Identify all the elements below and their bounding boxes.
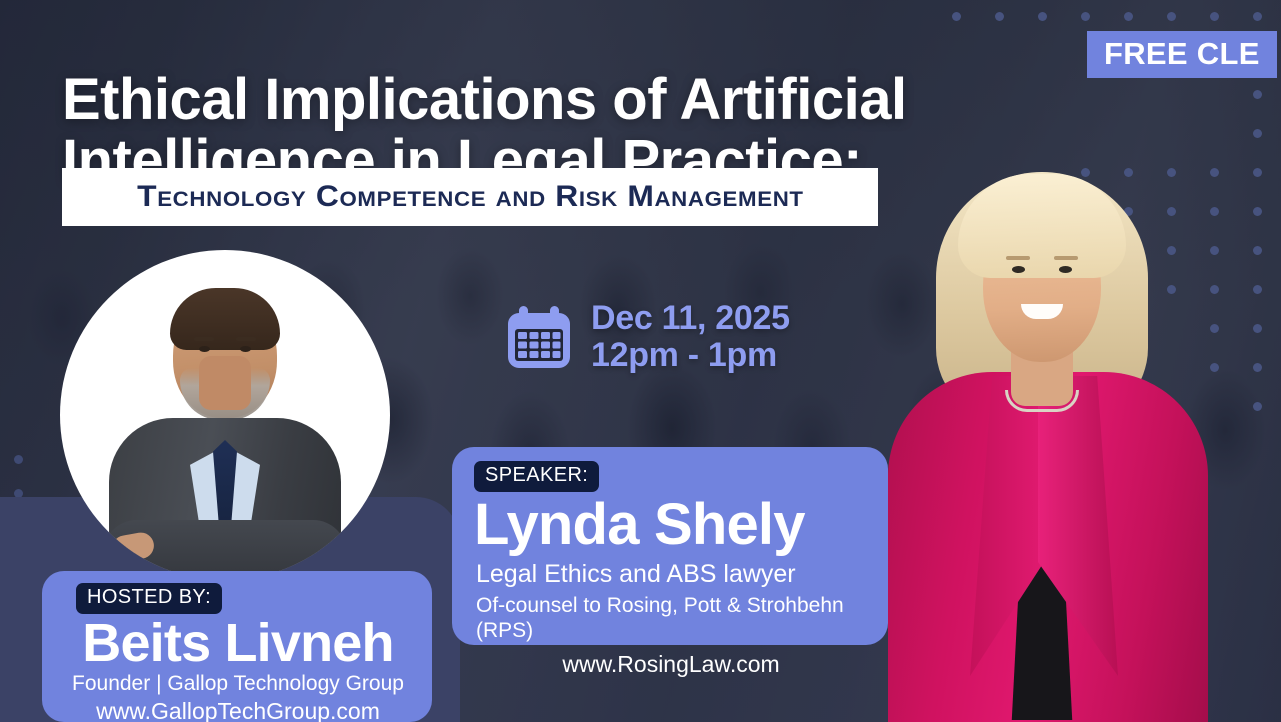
- host-role: Founder | Gallop Technology Group: [60, 672, 416, 697]
- host-headshot-photo: [60, 250, 390, 580]
- speaker-name: Lynda Shely: [474, 496, 868, 554]
- speaker-eyebrow-right: [1054, 256, 1078, 260]
- event-datetime: Dec 11, 2025 12pm - 1pm: [503, 300, 790, 373]
- speaker-badge: SPEAKER:: [474, 461, 599, 492]
- speaker-affiliation: Of-counsel to Rosing, Pott & Strohbehn (…: [476, 593, 868, 643]
- host-eye-right: [240, 346, 251, 352]
- host-hair: [170, 288, 280, 350]
- host-eyebrow-left: [194, 337, 214, 341]
- calendar-icon: [503, 301, 575, 373]
- host-eyebrow-right: [236, 337, 256, 341]
- host-card: HOSTED BY: Beits Livneh Founder | Gallop…: [42, 571, 432, 722]
- host-eye-left: [199, 346, 210, 352]
- speaker-website-link[interactable]: www.RosingLaw.com: [474, 651, 868, 679]
- speaker-eye-left: [1012, 266, 1025, 273]
- speaker-eyebrow-left: [1006, 256, 1030, 260]
- free-cle-badge: FREE CLE: [1087, 31, 1277, 78]
- host-badge: HOSTED BY:: [76, 583, 222, 614]
- webinar-promo-poster: FREE CLE Ethical Implications of Artific…: [0, 0, 1281, 722]
- event-datetime-text: Dec 11, 2025 12pm - 1pm: [591, 300, 790, 373]
- speaker-portrait-photo: [862, 118, 1222, 722]
- host-name: Beits Livneh: [60, 616, 416, 670]
- event-time: 12pm - 1pm: [591, 337, 790, 374]
- speaker-role: Legal Ethics and ABS lawyer: [476, 560, 868, 590]
- host-neck: [199, 356, 251, 410]
- title-line-1: Ethical Implications of Artificial: [62, 69, 962, 130]
- host-badge-row: HOSTED BY:: [60, 583, 416, 614]
- speaker-necklace: [1005, 390, 1079, 412]
- host-website-link[interactable]: www.GallopTechGroup.com: [60, 698, 416, 722]
- speaker-card: SPEAKER: Lynda Shely Legal Ethics and AB…: [452, 447, 888, 645]
- speaker-eye-right: [1059, 266, 1072, 273]
- event-date: Dec 11, 2025: [591, 300, 790, 337]
- subtitle-text: Technology Competence and Risk Managemen…: [137, 180, 804, 214]
- subtitle-banner: Technology Competence and Risk Managemen…: [62, 168, 878, 226]
